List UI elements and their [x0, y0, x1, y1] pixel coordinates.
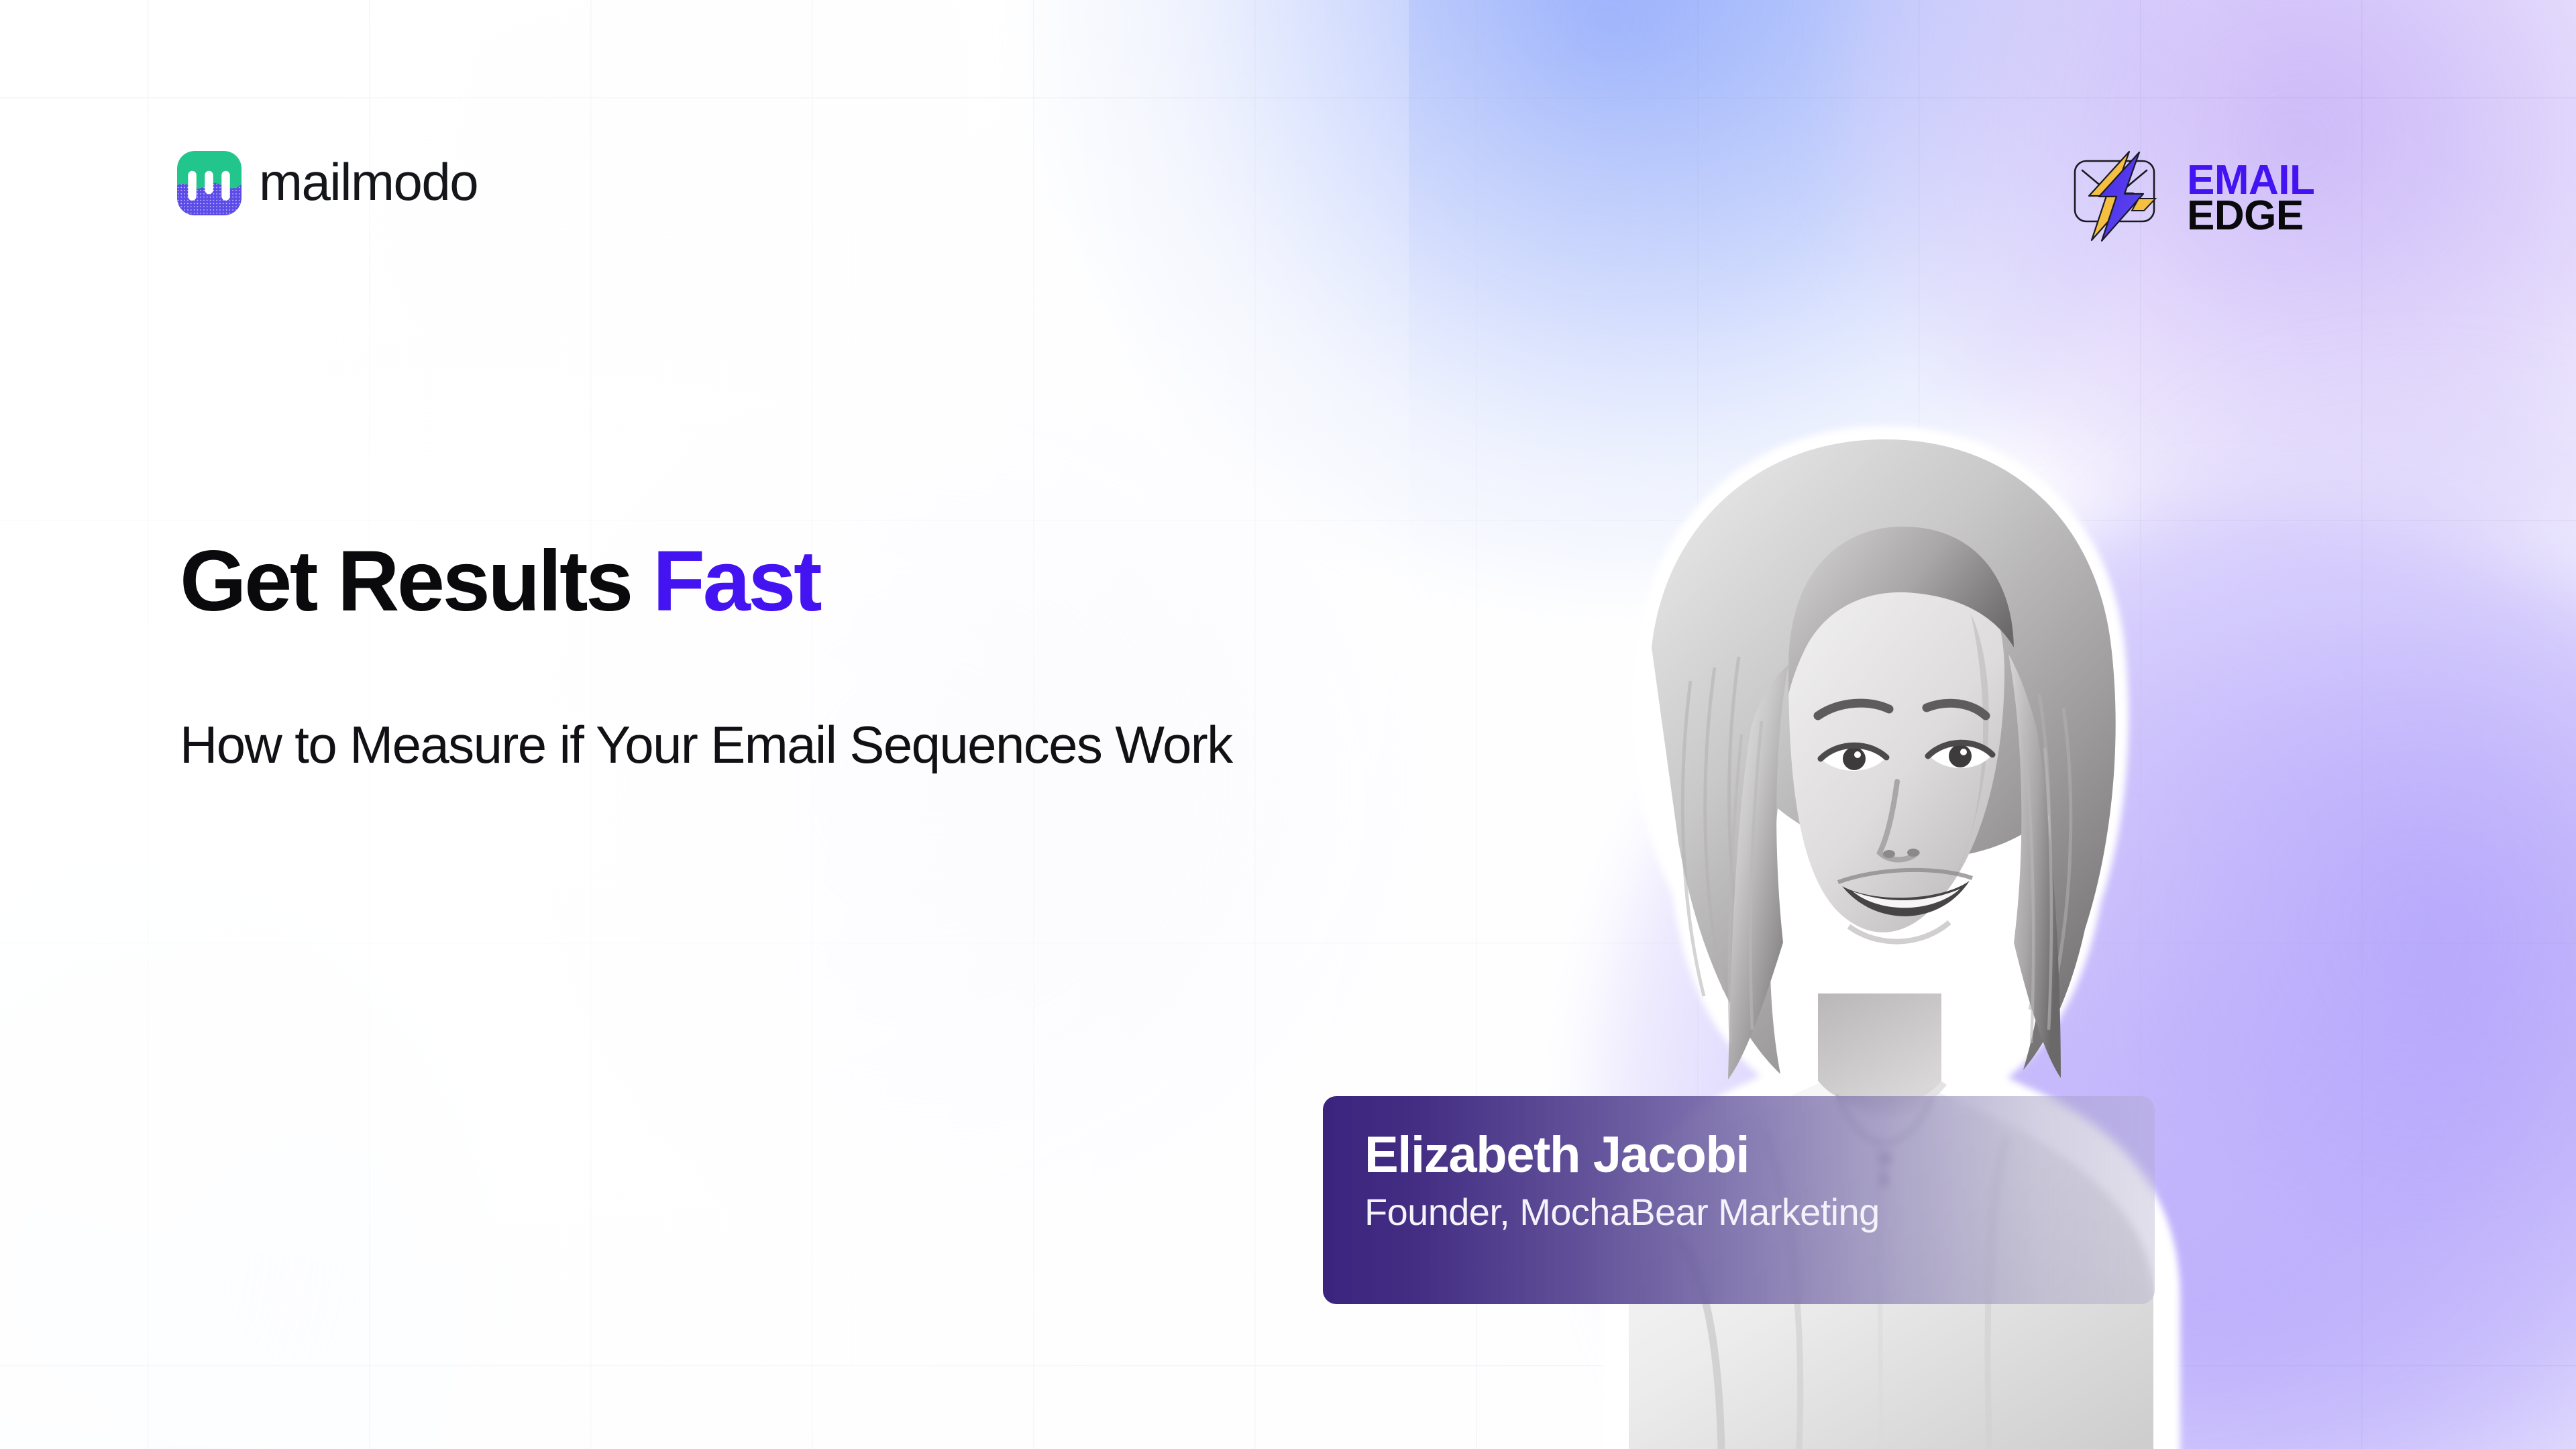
speaker-name: Elizabeth Jacobi [1364, 1128, 2155, 1182]
page-title: Get Results Fast [180, 537, 820, 626]
email-edge-logo[interactable]: EMAIL EDGE [2065, 146, 2314, 247]
webinar-banner: mailmodo [0, 0, 2576, 1449]
headline-accent: Fast [653, 533, 820, 629]
email-edge-wordmark: EMAIL EDGE [2187, 162, 2314, 234]
email-edge-line-2: EDGE [2187, 198, 2314, 233]
mailmodo-logo[interactable]: mailmodo [177, 151, 478, 215]
envelope-bolt-icon [2065, 146, 2172, 247]
headline-part-1: Get Results [180, 533, 653, 629]
background-veil-top-left [0, 0, 1006, 510]
mailmodo-logo-icon [177, 151, 241, 215]
page-subtitle: How to Measure if Your Email Sequences W… [180, 711, 1360, 779]
speaker-info-card: Elizabeth Jacobi Founder, MochaBear Mark… [1323, 1096, 2155, 1304]
mailmodo-wordmark: mailmodo [259, 156, 478, 208]
speaker-role: Founder, MochaBear Marketing [1364, 1191, 2155, 1233]
